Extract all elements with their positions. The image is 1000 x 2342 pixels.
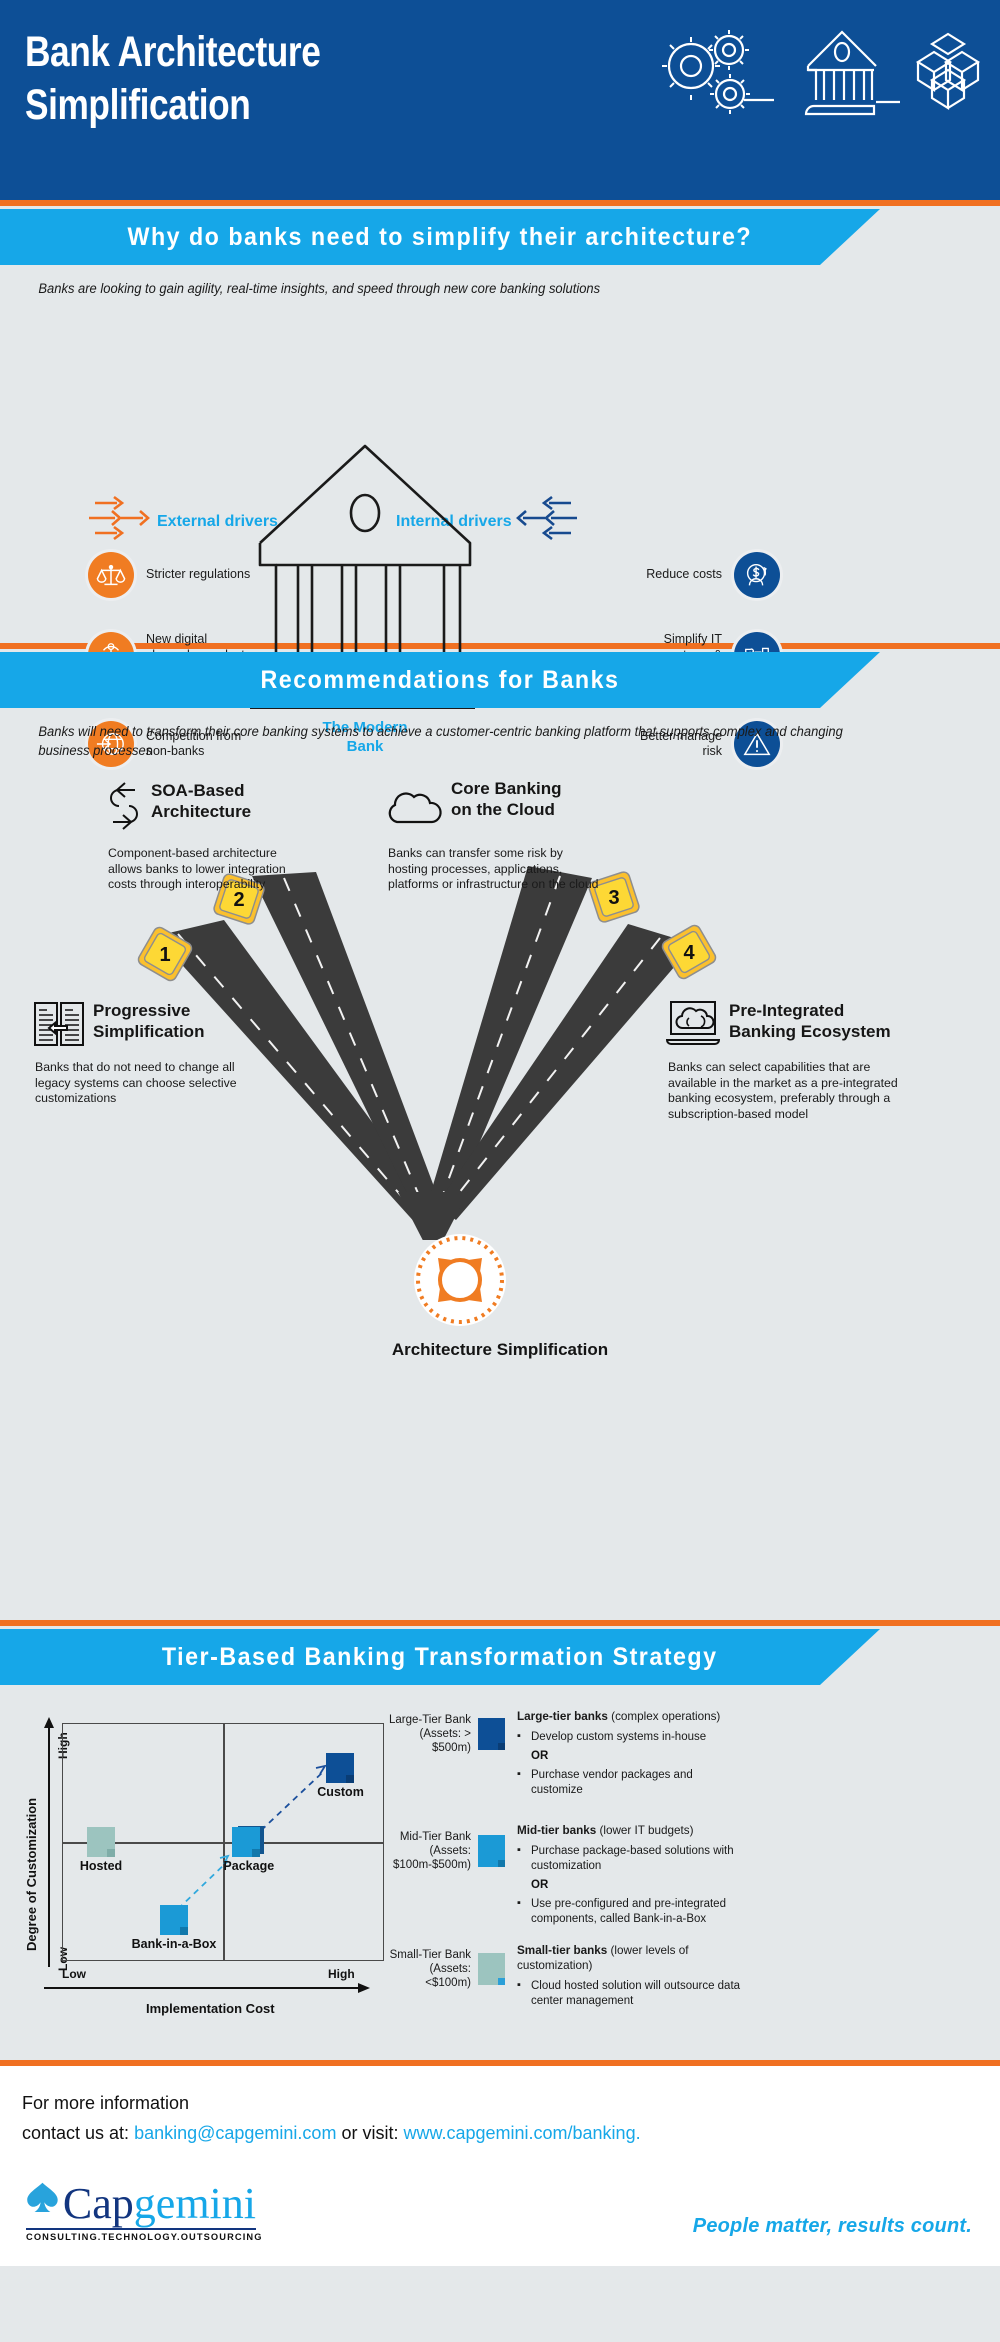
legend-large-tier-swatch [478, 1718, 505, 1750]
section1-body: External drivers Internal drivers [0, 298, 1000, 643]
tier-recommendation-small: Small-tier banks (lower levels of custom… [517, 1943, 752, 2014]
scales-icon [88, 552, 134, 598]
bank-building-icon [806, 32, 876, 114]
section1-banner-text: Why do banks need to simplify their arch… [128, 223, 753, 252]
recommendation-3-title-line-1: Core Banking [451, 778, 562, 799]
page-title: Bank Architecture Simplification [25, 26, 320, 132]
section3-banner-text: Tier-Based Banking Transformation Strate… [162, 1643, 718, 1672]
capgemini-logo-cap: Cap [63, 2179, 134, 2228]
section1-banner: Why do banks need to simplify their arch… [0, 209, 1000, 265]
legend-small-tier-caption: Small-Tier Bank (Assets: <$100m) [385, 1948, 471, 1990]
tier-recommendation-mid-bullet-0: Purchase package-based solutions with cu… [517, 1844, 747, 1874]
section2-lede: Banks will need to transform their core … [0, 708, 960, 760]
chart-point-package-label: Package [223, 1859, 274, 1873]
capgemini-wordmark: Capgemini [63, 2182, 256, 2226]
legend-mid-tier-swatch [478, 1835, 505, 1867]
external-arrows-icon [88, 494, 156, 542]
internal-driver-0-label: Reduce costs [646, 567, 722, 583]
recommendation-2-head: SOA-Based Architecture [105, 780, 251, 832]
convergence-label: Architecture Simplification [0, 1340, 1000, 1360]
tier-strategy-chart: Degree of Customization Implementation C… [10, 1709, 410, 2019]
page-title-line-1: Bank Architecture [25, 26, 320, 79]
tier-recommendation-small-title: Small-tier banks (lower levels of custom… [517, 1943, 752, 1973]
tier-recommendation-mid-title-rest: (lower IT budgets) [596, 1824, 693, 1837]
footer-contact-line-1: For more information [22, 2088, 641, 2118]
tier-recommendation-large-bullet-1: Purchase vendor packages and customize [517, 1768, 747, 1798]
svg-text:1: 1 [159, 944, 170, 966]
capgemini-tagline: People matter, results count. [693, 2215, 972, 2238]
recommendation-1-title-line-1: Progressive [93, 1000, 204, 1021]
recommendation-3-head: Core Banking on the Cloud [385, 778, 562, 830]
legend-mid-tier-caption: Mid-Tier Bank (Assets: $100m-$500m) [385, 1830, 471, 1872]
tier-recommendation-large-bullet-0: Develop custom systems in-house [517, 1730, 747, 1745]
footer-email-link[interactable]: banking@capgemini.com [134, 2123, 336, 2143]
tier-recommendation-large-title: Large-tier banks (complex operations) [517, 1709, 747, 1724]
footer-contact-line-2: contact us at: banking@capgemini.com or … [22, 2118, 641, 2148]
internal-arrows-icon [510, 494, 578, 542]
legend-small-tier: Small-Tier Bank (Assets: <$100m) [385, 1948, 505, 1990]
dollar-cycle-icon [734, 552, 780, 598]
page-footer: For more information contact us at: bank… [0, 2066, 1000, 2266]
tier-recommendation-mid-bullet-1: Use pre-configured and pre-integrated co… [517, 1897, 747, 1927]
recommendation-4-body: Banks can select capabilities that are a… [668, 1060, 898, 1122]
svg-text:4: 4 [683, 942, 695, 964]
infographic-page: Bank Architecture Simplification [0, 0, 1000, 2342]
section3-body: Degree of Customization Implementation C… [0, 1685, 1000, 2060]
recommendation-3-title: Core Banking on the Cloud [451, 778, 562, 820]
capgemini-logo-gemini: gemini [134, 2179, 256, 2228]
cloud-icon [385, 778, 443, 830]
gears-icon [662, 30, 750, 114]
recommendation-4-head: Pre-Integrated Banking Ecosystem [665, 1000, 891, 1046]
page-title-line-2: Simplification [25, 79, 320, 132]
footer-contact: For more information contact us at: bank… [22, 2088, 641, 2148]
soa-arrows-icon [105, 780, 143, 832]
simplification-burst-icon [410, 1230, 510, 1330]
chart-point-bank-in-a-box: Bank-in-a-Box [160, 1905, 188, 1935]
legend-mid-tier: Mid-Tier Bank (Assets: $100m-$500m) [385, 1830, 505, 1872]
recommendation-4-title: Pre-Integrated Banking Ecosystem [729, 1000, 891, 1042]
chart-point-hosted-label: Hosted [80, 1859, 122, 1873]
external-driver-0-label: Stricter regulations [146, 567, 250, 583]
recommendation-4-title-line-1: Pre-Integrated [729, 1000, 891, 1021]
section3-banner: Tier-Based Banking Transformation Strate… [0, 1629, 1000, 1685]
cubes-icon [918, 34, 978, 108]
footer-contact-prefix: contact us at: [22, 2123, 134, 2143]
recommendation-2-body: Component-based architecture allows bank… [108, 846, 303, 893]
internal-driver-0: Reduce costs [560, 552, 780, 598]
capgemini-tagline-sub: CONSULTING.TECHNOLOGY.OUTSOURCING [26, 2228, 256, 2242]
tier-recommendation-mid-title-bold: Mid-tier banks [517, 1824, 596, 1837]
legend-large-tier: Large-Tier Bank (Assets: > $500m) [385, 1713, 505, 1755]
chart-point-hosted: Hosted [87, 1827, 115, 1857]
svg-text:3: 3 [608, 887, 619, 909]
page-header: Bank Architecture Simplification [0, 0, 1000, 200]
chart-point-bank-in-a-box-label: Bank-in-a-Box [132, 1937, 217, 1951]
footer-website-link[interactable]: www.capgemini.com/banking. [403, 2123, 640, 2143]
tier-recommendation-large: Large-tier banks (complex operations) De… [517, 1709, 747, 1803]
tier-recommendation-large-title-rest: (complex operations) [608, 1710, 720, 1723]
recommendation-2-title-line-2: Architecture [151, 801, 251, 822]
recommendation-2-title: SOA-Based Architecture [151, 780, 251, 822]
recommendation-1-title-line-2: Simplification [93, 1021, 204, 1042]
recommendation-2-title-line-1: SOA-Based [151, 780, 251, 801]
recommendation-1-body: Banks that do not need to change all leg… [35, 1060, 240, 1107]
chart-point-package: Package [232, 1827, 260, 1857]
section2-body: 1 2 3 4 [0, 760, 1000, 1620]
legend-large-tier-caption: Large-Tier Bank (Assets: > $500m) [385, 1713, 471, 1755]
section1-lede: Banks are looking to gain agility, real-… [0, 265, 960, 298]
recommendation-1-title: Progressive Simplification [93, 1000, 204, 1042]
documents-icon [33, 1000, 85, 1048]
tier-recommendation-mid: Mid-tier banks (lower IT budgets) Purcha… [517, 1823, 747, 1932]
capgemini-spade-icon [26, 2170, 59, 2226]
recommendation-1-head: Progressive Simplification [33, 1000, 204, 1048]
footer-contact-mid: or visit: [336, 2123, 403, 2143]
chart-point-custom-label: Custom [317, 1785, 364, 1799]
recommendation-3-title-line-2: on the Cloud [451, 799, 562, 820]
tier-recommendation-large-or: OR [517, 1750, 747, 1762]
tier-recommendation-large-title-bold: Large-tier banks [517, 1710, 608, 1723]
section2-banner-text: Recommendations for Banks [261, 666, 620, 695]
tier-recommendation-mid-title: Mid-tier banks (lower IT budgets) [517, 1823, 747, 1838]
capgemini-logo: Capgemini CONSULTING.TECHNOLOGY.OUTSOURC… [26, 2170, 256, 2242]
recommendation-4-title-line-2: Banking Ecosystem [729, 1021, 891, 1042]
tier-recommendation-mid-or: OR [517, 1879, 747, 1891]
road-sign-4: 4 [660, 923, 718, 986]
chart-point-custom: Custom [326, 1753, 354, 1783]
road-sign-1: 1 [136, 925, 194, 988]
tier-recommendation-small-bullet-0: Cloud hosted solution will outsource dat… [517, 1979, 752, 2009]
header-artwork [656, 18, 986, 133]
legend-small-tier-swatch [478, 1953, 505, 1985]
laptop-cloud-icon [665, 1000, 721, 1046]
tier-recommendation-small-title-bold: Small-tier banks [517, 1944, 607, 1957]
recommendation-3-body: Banks can transfer some risk by hosting … [388, 846, 603, 893]
section2-banner: Recommendations for Banks [0, 652, 1000, 708]
